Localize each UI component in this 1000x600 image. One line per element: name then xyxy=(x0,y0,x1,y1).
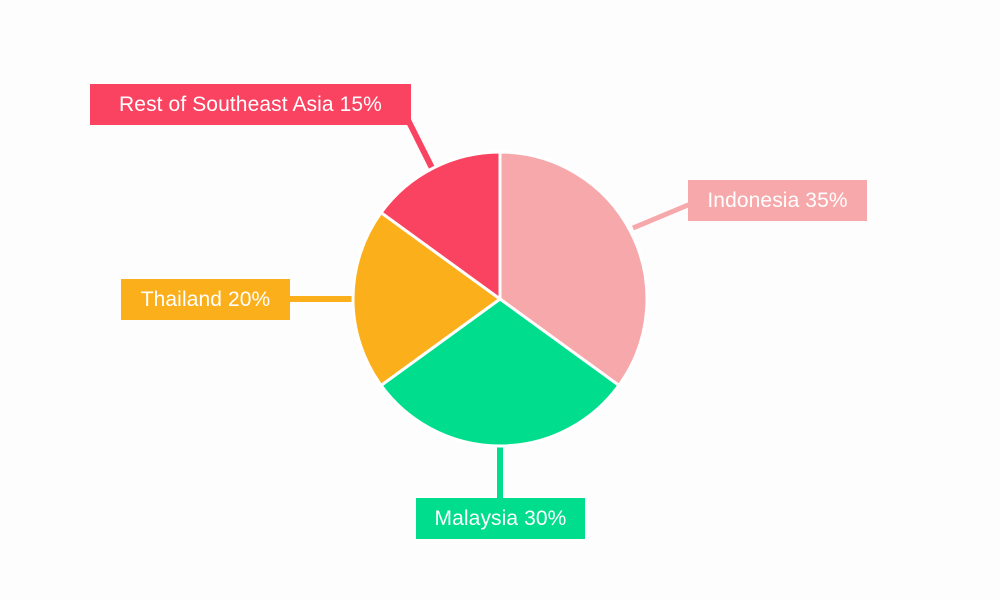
slice-label-thailand[interactable]: Thailand 20% xyxy=(121,279,290,320)
slice-label-rest-of-southeast-asia[interactable]: Rest of Southeast Asia 15% xyxy=(90,84,411,125)
pie-slice-group xyxy=(353,152,647,446)
slice-label-malaysia[interactable]: Malaysia 30% xyxy=(416,498,585,539)
slice-label-indonesia-text: Indonesia 35% xyxy=(707,180,847,221)
slice-label-thailand-text: Thailand 20% xyxy=(141,279,271,320)
slice-label-malaysia-text: Malaysia 30% xyxy=(435,498,567,539)
slice-label-rest-of-southeast-asia-text: Rest of Southeast Asia 15% xyxy=(119,84,382,125)
slice-label-indonesia[interactable]: Indonesia 35% xyxy=(688,180,867,221)
pie-chart: Indonesia 35% Malaysia 30% Thailand 20% … xyxy=(0,0,1000,600)
